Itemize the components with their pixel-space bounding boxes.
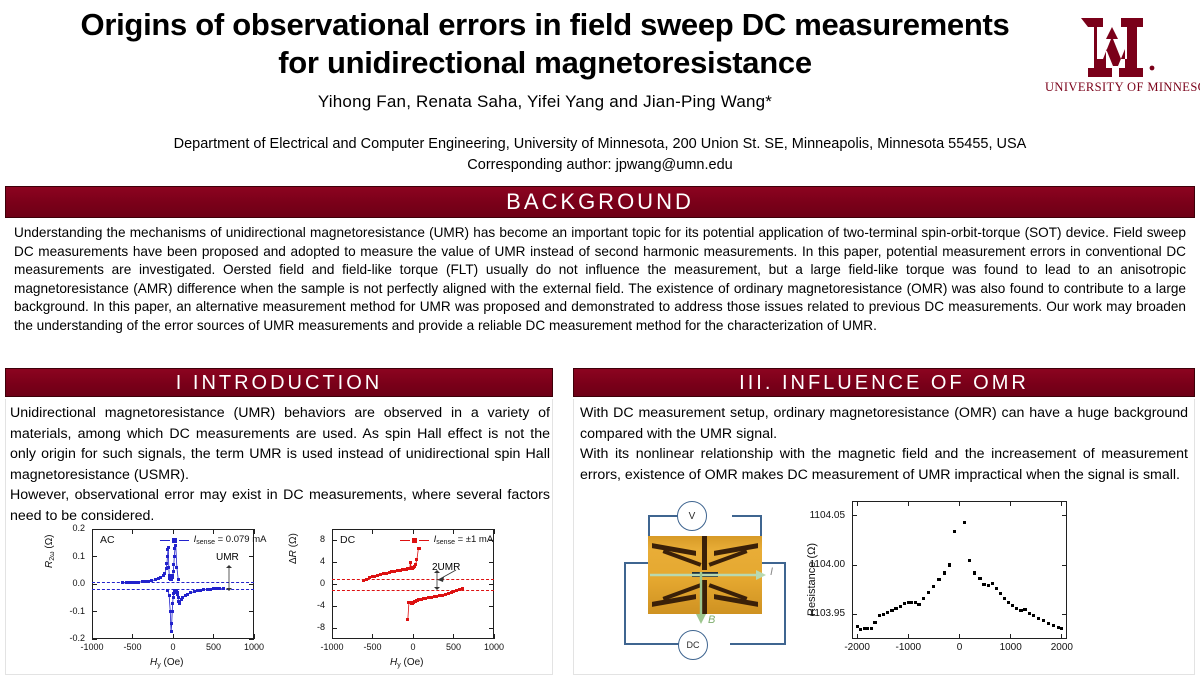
omr-ylabel: Resistance (Ω) (806, 543, 818, 616)
section-header-omr: III. INFLUENCE OF OMR (573, 368, 1195, 397)
data-point (458, 588, 461, 591)
y-tick-label: 0 (288, 578, 325, 588)
data-point (177, 596, 180, 599)
y-tick-label: -0.1 (48, 606, 85, 616)
dc-xlabel: Hy (Oe) (390, 657, 424, 669)
omr-body-text: With DC measurement setup, ordinary magn… (580, 403, 1188, 485)
y-tick-label: 1103.95 (798, 608, 845, 619)
y-tick-label: 1104.05 (798, 510, 845, 521)
umr-arrow-icon (222, 565, 236, 591)
wire-dc-left-horz (624, 562, 650, 564)
data-point (922, 597, 925, 600)
y-tick (852, 614, 857, 615)
x-tick-label: -1000 (318, 642, 346, 652)
voltmeter: V (677, 501, 707, 531)
data-point (1011, 604, 1014, 607)
x-tick-top (1061, 501, 1062, 506)
omr-plot-canvas (852, 501, 1067, 639)
data-point (978, 577, 981, 580)
data-point (193, 590, 196, 593)
x-tick-label: -1000 (888, 642, 928, 653)
y-tick-label: -4 (288, 600, 325, 610)
poster-root: Origins of observational errors in field… (0, 0, 1200, 675)
data-point (170, 622, 173, 625)
x-tick-top (857, 501, 858, 506)
data-point (199, 589, 202, 592)
data-point (991, 582, 994, 585)
data-point (438, 594, 441, 597)
data-point (973, 571, 976, 574)
data-point (873, 621, 876, 624)
data-point (968, 559, 971, 562)
data-point (433, 595, 436, 598)
data-point (886, 611, 889, 614)
x-tick-label: 0 (159, 642, 187, 652)
data-point (1032, 614, 1035, 617)
data-point (987, 584, 990, 587)
y-tick-label: 0.1 (48, 551, 85, 561)
x-tick-top (959, 501, 960, 506)
data-point (1007, 601, 1010, 604)
data-point (932, 585, 935, 588)
x-tick-label: 0 (399, 642, 427, 652)
data-point (878, 614, 881, 617)
dc-plot-canvas (332, 529, 494, 639)
y-tick-label: 1104.00 (798, 559, 845, 570)
data-point (1042, 619, 1045, 622)
data-point (948, 563, 951, 566)
x-tick (1010, 634, 1011, 639)
data-point (1019, 609, 1022, 612)
data-point (169, 610, 172, 613)
x-tick-label: 0 (940, 642, 980, 653)
x-tick-label: 1000 (480, 642, 508, 652)
data-point (209, 588, 212, 591)
ac-chart: AC Isense = 0.079 mA R2ω (Ω) Hy (Oe) -10… (48, 524, 273, 672)
x-tick (1061, 634, 1062, 639)
data-point (1015, 607, 1018, 610)
data-point (1060, 627, 1063, 630)
y-tick-label: -8 (288, 622, 325, 632)
data-point (407, 601, 410, 604)
y-tick (852, 515, 857, 516)
data-point (189, 591, 192, 594)
chart-annotation: 2UMR (432, 562, 460, 573)
data-point (1023, 608, 1026, 611)
wire-dc-right-vert (784, 562, 786, 644)
data-point (1028, 612, 1031, 615)
data-point (982, 583, 985, 586)
section-header-introduction: I INTRODUCTION (5, 368, 553, 397)
x-tick-top (908, 501, 909, 506)
series-line (332, 529, 494, 639)
poster-header: Origins of observational errors in field… (0, 0, 1200, 180)
data-point (890, 609, 893, 612)
x-tick-label: 2000 (1042, 642, 1082, 653)
device-schematic: I B V DC (620, 498, 792, 673)
data-point (202, 588, 205, 591)
data-point (168, 594, 171, 597)
affiliation-line-1: Department of Electrical and Computer En… (20, 134, 1180, 155)
data-point (171, 602, 174, 605)
data-point (406, 618, 409, 621)
y-tick-label: 8 (288, 534, 325, 544)
university-logo: UNIVERSITY OF MINNESOTA (1045, 14, 1190, 106)
data-point (882, 613, 885, 616)
x-tick-label: -1000 (78, 642, 106, 652)
background-body-text: Understanding the mechanisms of unidirec… (14, 224, 1186, 336)
data-point (953, 530, 956, 533)
page-title: Origins of observational errors in field… (70, 6, 1020, 82)
omr-chart: Resistance (Ω) -2000-10000100020001103.9… (798, 496, 1078, 672)
current-label: I (770, 566, 773, 578)
data-point (1003, 597, 1006, 600)
data-point (444, 593, 447, 596)
data-point (1037, 617, 1040, 620)
x-tick (959, 634, 960, 639)
x-tick-label: 1000 (240, 642, 268, 652)
y-tick-label: 0.0 (48, 578, 85, 588)
wire-dc-left-vert (624, 562, 626, 644)
data-point (206, 588, 209, 591)
affiliation-line-2: Corresponding author: jpwang@umn.edu (20, 155, 1180, 176)
y-tick-label: -0.2 (48, 633, 85, 643)
ac-xlabel: Hy (Oe) (150, 657, 184, 669)
data-point (170, 630, 173, 633)
field-label: B (708, 614, 715, 626)
data-point (1047, 622, 1050, 625)
y-tick (852, 565, 857, 566)
x-tick (857, 634, 858, 639)
data-point (435, 595, 438, 598)
data-point (196, 589, 199, 592)
data-point (927, 591, 930, 594)
section-header-background: BACKGROUND (5, 186, 1195, 218)
x-tick-label: -2000 (837, 642, 877, 653)
dc-chart: DC Isense = ±1 mA ΔR (Ω) Hy (Oe) -1000-5… (288, 524, 513, 672)
wire-volt-right-horz (732, 515, 762, 517)
introduction-body-text: Unidirectional magnetoresistance (UMR) b… (10, 403, 550, 527)
data-point (430, 596, 433, 599)
data-point (999, 592, 1002, 595)
wire-dc-bottom-left (624, 643, 680, 645)
wire-dc-bottom-right (730, 643, 786, 645)
wire-dc-right-horz (760, 562, 786, 564)
data-point (937, 578, 940, 581)
data-point (461, 587, 464, 590)
data-point (447, 592, 450, 595)
data-point (917, 603, 920, 606)
data-point (899, 605, 902, 608)
data-point (215, 587, 218, 590)
data-point (166, 589, 169, 592)
x-tick-label: 500 (200, 642, 228, 652)
data-point (177, 600, 180, 603)
data-point (995, 587, 998, 590)
logo-caption: UNIVERSITY OF MINNESOTA (1045, 80, 1190, 95)
affiliation: Department of Electrical and Computer En… (20, 134, 1180, 176)
data-point (963, 521, 966, 524)
x-tick (908, 634, 909, 639)
x-tick-label: -500 (119, 642, 147, 652)
y-tick-right (1062, 565, 1067, 566)
y-tick-right (1062, 515, 1067, 516)
y-tick-label: 0.2 (48, 523, 85, 533)
x-tick-top (1010, 501, 1011, 506)
x-tick-label: 1000 (991, 642, 1031, 653)
chip-electrode-top (702, 536, 707, 570)
data-point (441, 594, 444, 597)
data-point (1052, 624, 1055, 627)
data-point (894, 607, 897, 610)
umn-m-icon (1079, 14, 1157, 78)
wire-volt-left-horz (648, 515, 678, 517)
x-tick-label: 500 (440, 642, 468, 652)
data-point (172, 596, 175, 599)
x-tick-label: -500 (359, 642, 387, 652)
dc-source: DC (678, 630, 708, 660)
chart-annotation: UMR (216, 552, 239, 563)
author-list: Yihong Fan, Renata Saha, Yifei Yang and … (70, 92, 1020, 112)
data-point (943, 571, 946, 574)
y-tick-right (1062, 614, 1067, 615)
data-point (212, 587, 215, 590)
data-point (870, 627, 873, 630)
y-tick-label: 4 (288, 556, 325, 566)
